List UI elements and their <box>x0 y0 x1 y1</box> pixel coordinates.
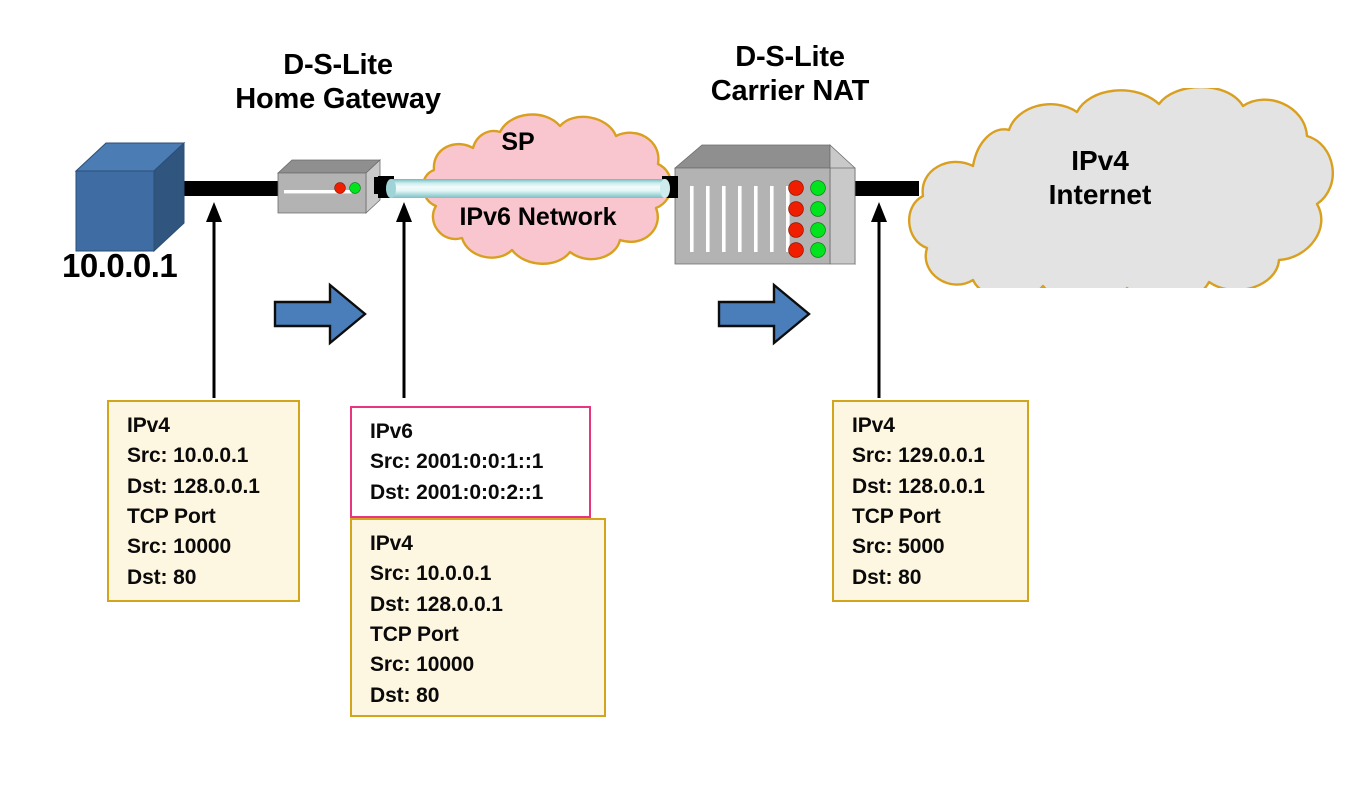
packet-line: IPv4 <box>370 529 590 559</box>
internet-cloud-label: IPv4 Internet <box>1000 144 1200 211</box>
sp-cloud-label-top: SP <box>458 127 578 157</box>
packet-line: TCP Port <box>127 502 284 532</box>
packet-line: Src: 5000 <box>852 532 1013 562</box>
packet-box-right-ipv4: IPv4 Src: 129.0.0.1 Dst: 128.0.0.1 TCP P… <box>832 400 1029 602</box>
diagram-canvas: SP IPv6 Network IPv4 Internet <box>0 0 1366 797</box>
nat-title: D-S-Lite Carrier NAT <box>650 40 930 108</box>
packet-box-middle-ipv4: IPv4 Src: 10.0.0.1 Dst: 128.0.0.1 TCP Po… <box>350 518 606 717</box>
flow-direction-arrow-icon-1 <box>272 282 368 346</box>
packet-line: Dst: 80 <box>852 563 1013 593</box>
packet-line: Src: 10000 <box>127 532 284 562</box>
packet-box-left-ipv4: IPv4 Src: 10.0.0.1 Dst: 128.0.0.1 TCP Po… <box>107 400 300 602</box>
packet-box-middle-ipv6: IPv6 Src: 2001:0:0:1::1 Dst: 2001:0:0:2:… <box>350 406 591 518</box>
packet-line: IPv6 <box>370 417 575 447</box>
sp-cloud-label-bottom: IPv6 Network <box>418 202 658 232</box>
ipv6-tunnel-pipe-icon <box>378 170 678 206</box>
packet-pointer-arrow-icon-3 <box>865 200 893 398</box>
packet-line: Src: 129.0.0.1 <box>852 441 1013 471</box>
host-cube-icon <box>72 137 190 259</box>
packet-line: IPv4 <box>852 411 1013 441</box>
carrier-nat-device-icon <box>672 142 858 268</box>
packet-line: TCP Port <box>852 502 1013 532</box>
packet-line: Dst: 80 <box>127 563 284 593</box>
packet-line: Dst: 128.0.0.1 <box>852 472 1013 502</box>
packet-line: Dst: 128.0.0.1 <box>127 472 284 502</box>
packet-pointer-arrow-icon-2 <box>390 200 418 398</box>
packet-line: Src: 10000 <box>370 650 590 680</box>
packet-line: Src: 10.0.0.1 <box>127 441 284 471</box>
cable-nat-to-internet <box>851 181 919 196</box>
packet-pointer-arrow-icon-1 <box>200 200 228 398</box>
packet-line: TCP Port <box>370 620 590 650</box>
packet-line: Dst: 128.0.0.1 <box>370 590 590 620</box>
packet-line: IPv4 <box>127 411 284 441</box>
packet-line: Dst: 2001:0:0:2::1 <box>370 478 575 508</box>
router-device-icon <box>276 157 384 215</box>
packet-line: Src: 10.0.0.1 <box>370 559 590 589</box>
flow-direction-arrow-icon-2 <box>716 282 812 346</box>
packet-line: Src: 2001:0:0:1::1 <box>370 447 575 477</box>
packet-line: Dst: 80 <box>370 681 590 711</box>
cable-host-to-gateway <box>183 181 281 196</box>
